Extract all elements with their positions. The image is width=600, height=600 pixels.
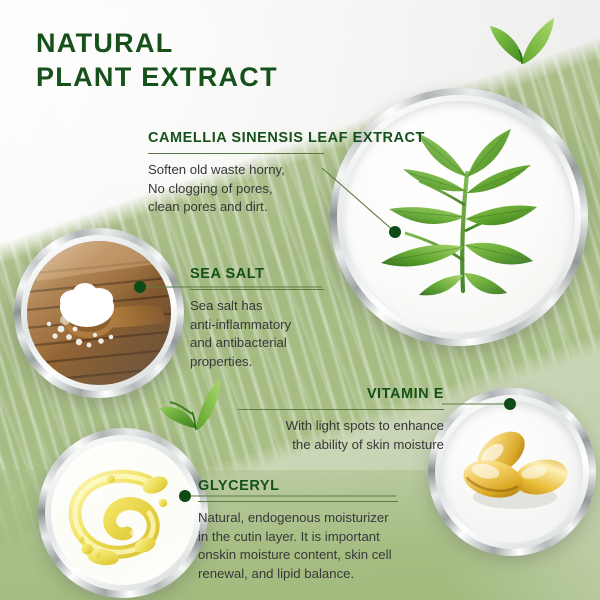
vitamin-e-dish [428, 388, 596, 556]
callout-glyceryl: GLYCERYL Natural, endogenous moisturizer… [198, 478, 398, 584]
callout-title: GLYCERYL [198, 478, 398, 496]
callout-sea-salt: SEA SALT Sea salt has anti-inflammatory … [190, 266, 324, 372]
callout-body: Natural, endogenous moisturizer in the c… [198, 509, 398, 585]
callout-rule [190, 289, 324, 290]
glyceryl-dish [38, 428, 208, 598]
callout-body: Sea salt has anti-inflammatory and antib… [190, 297, 324, 373]
title-line-2: PLANT EXTRACT [36, 60, 278, 94]
dish-well [441, 401, 583, 543]
callout-title: SEA SALT [190, 266, 324, 284]
callout-rule [148, 153, 324, 154]
callout-camellia-sinensis: CAMELLIA SINENSIS LEAF EXTRACT Soften ol… [148, 130, 324, 217]
page-title: NATURAL PLANT EXTRACT [36, 26, 278, 95]
dish-well [27, 241, 171, 385]
tea-leaf-pair-top-right-icon [486, 12, 558, 74]
sea-salt-dish [14, 228, 184, 398]
dish-well [51, 441, 195, 585]
sea-salt-illustration [27, 241, 171, 385]
infographic-canvas: NATURAL PLANT EXTRACT CAMELLIA SINENSIS … [0, 0, 600, 600]
callout-body: Soften old waste horny, No clogging of p… [148, 161, 324, 218]
callout-vitamin-e: VITAMIN E With light spots to enhance th… [238, 386, 444, 454]
callout-rule [198, 501, 398, 502]
title-line-1: NATURAL [36, 26, 278, 60]
glyceryl-oil-illustration [51, 441, 195, 585]
tea-leaves-dish [330, 88, 588, 346]
tea-leaf-pair-middle-left-icon [158, 374, 234, 440]
vitamin-e-capsules-illustration [441, 401, 583, 543]
callout-rule [238, 409, 444, 410]
callout-body: With light spots to enhance the ability … [238, 417, 444, 455]
callout-title: CAMELLIA SINENSIS LEAF EXTRACT [148, 130, 324, 148]
callout-title: VITAMIN E [238, 386, 444, 404]
